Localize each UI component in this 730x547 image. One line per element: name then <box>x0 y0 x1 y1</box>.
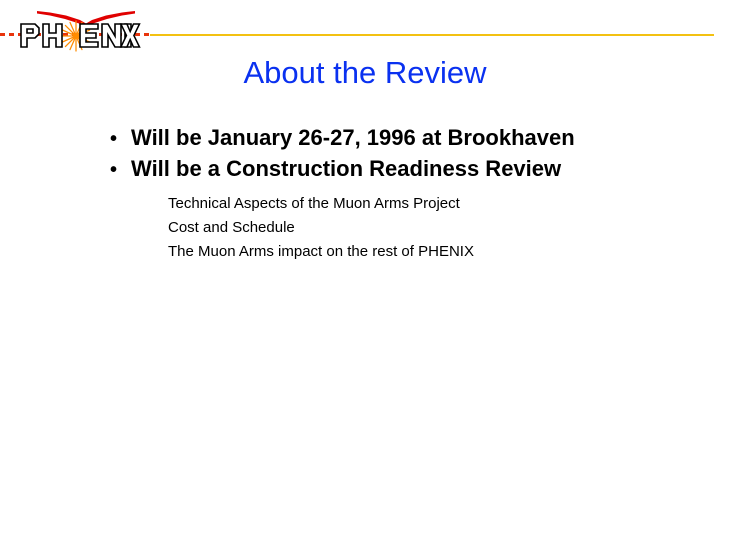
bullet-text: Will be January 26-27, 1996 at Brookhave… <box>131 123 575 152</box>
bullet-text: Will be a Construction Readiness Review <box>131 154 561 183</box>
slide-body: • Will be January 26-27, 1996 at Brookha… <box>110 123 710 264</box>
bullet-marker-icon: • <box>110 125 131 154</box>
sub-bullet-item: The Muon Arms impact on the rest of PHEN… <box>168 240 710 264</box>
bullet-item: • Will be January 26-27, 1996 at Brookha… <box>110 123 710 154</box>
phenix-wordmark <box>18 22 144 49</box>
page-title: About the Review <box>0 54 730 92</box>
divider-solid <box>150 34 714 36</box>
bullet-marker-icon: • <box>110 156 131 185</box>
slide: About the Review • Will be January 26-27… <box>0 0 730 547</box>
sub-bullet-item: Technical Aspects of the Muon Arms Proje… <box>168 192 710 216</box>
bullet-item: • Will be a Construction Readiness Revie… <box>110 154 710 185</box>
sub-bullet-item: Cost and Schedule <box>168 216 710 240</box>
sub-bullet-list: Technical Aspects of the Muon Arms Proje… <box>168 192 710 264</box>
slide-header <box>0 0 730 52</box>
